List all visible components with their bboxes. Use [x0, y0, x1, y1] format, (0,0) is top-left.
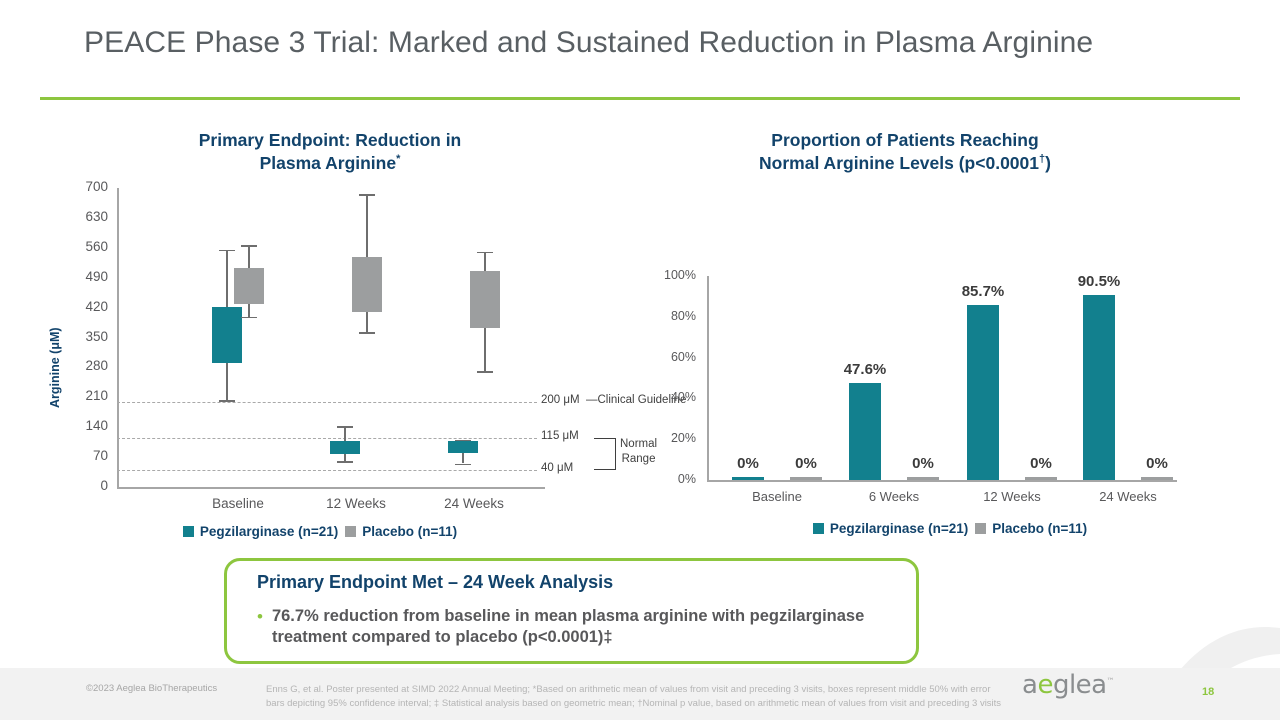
aeglea-logo: aeglea™	[1022, 670, 1114, 700]
page-title: PEACE Phase 3 Trial: Marked and Sustaine…	[84, 26, 1214, 60]
box-plot-box	[470, 271, 500, 327]
bar-chart-x-axis-line	[707, 480, 1177, 482]
bar-chart-bar	[732, 477, 764, 480]
left-chart-title-line1: Primary Endpoint: Reduction in	[199, 130, 462, 150]
box-plot-x-label: 24 Weeks	[414, 496, 534, 511]
box-plot-y-axis-line	[117, 188, 119, 488]
box-plot-whisker-cap-low	[241, 317, 257, 319]
legend-item-placebo: Placebo (n=11)	[975, 521, 1087, 536]
legend-item-pegzilarginase: Pegzilarginase (n=21)	[813, 521, 968, 536]
right-chart-title-line2: Normal Arginine Levels (p<0.0001	[759, 153, 1039, 173]
box-plot-reference-line	[117, 438, 537, 439]
bar-chart-data-label: 0%	[1001, 455, 1081, 472]
box-plot-whisker-cap-low	[477, 371, 493, 373]
copyright-text: ©2023 Aeglea BioTherapeutics	[86, 683, 217, 694]
box-plot-reference-label: 200 μM	[541, 394, 580, 406]
bar-chart-bar	[967, 305, 999, 480]
box-plot-y-tick: 420	[60, 299, 108, 314]
box-plot-box	[352, 257, 382, 312]
box-plot-y-tick: 70	[60, 448, 108, 463]
left-chart-legend: Pegzilarginase (n=21) Placebo (n=11)	[110, 524, 530, 539]
title-divider	[40, 97, 1240, 100]
bar-chart-data-label: 0%	[1117, 455, 1197, 472]
legend-label-placebo: Placebo (n=11)	[362, 524, 457, 539]
box-plot-y-tick: 280	[60, 358, 108, 373]
legend-label-placebo: Placebo (n=11)	[992, 521, 1087, 536]
box-plot-y-tick: 140	[60, 418, 108, 433]
bar-chart-data-label: 0%	[766, 455, 846, 472]
legend-swatch-teal-icon	[183, 526, 194, 537]
legend-swatch-grey-icon	[345, 526, 356, 537]
callout-bullet-item: • 76.7% reduction from baseline in mean …	[257, 606, 902, 649]
bar-chart-bar	[907, 477, 939, 480]
bar-chart-y-tick: 60%	[650, 350, 696, 364]
box-plot-reference-label: 115 μM	[541, 430, 579, 442]
bar-chart-bar	[1083, 295, 1115, 480]
logo-letter-e: e	[1037, 670, 1053, 700]
bar-chart-data-label: 85.7%	[943, 283, 1023, 300]
bar-chart-y-axis-line	[707, 276, 709, 481]
bar-chart-bar	[790, 477, 822, 480]
footnote-text: Enns G, et al. Poster presented at SIMD …	[266, 683, 1006, 712]
legend-label-pegzilarginase: Pegzilarginase (n=21)	[830, 521, 968, 536]
bar-chart-bar	[849, 383, 881, 480]
box-plot-whisker-cap-low	[337, 461, 353, 463]
bar-chart-x-label: 24 Weeks	[1068, 489, 1188, 504]
box-plot-box	[448, 441, 478, 453]
callout-box: Primary Endpoint Met – 24 Week Analysis …	[224, 558, 919, 664]
box-plot-x-axis-line	[117, 487, 545, 489]
bar-chart-y-tick: 100%	[650, 268, 696, 282]
box-plot-reference-line	[117, 402, 537, 403]
bullet-dot-icon: •	[257, 606, 263, 649]
right-chart-legend: Pegzilarginase (n=21) Placebo (n=11)	[735, 521, 1165, 536]
callout-bullet-text: 76.7% reduction from baseline in mean pl…	[272, 606, 902, 649]
box-plot-x-label: Baseline	[178, 496, 298, 511]
left-chart-title: Primary Endpoint: Reduction in Plasma Ar…	[120, 129, 540, 175]
logo-letter-a: a	[1022, 670, 1037, 700]
box-plot-whisker-cap-low	[359, 332, 375, 334]
right-chart-title-paren: )	[1045, 153, 1051, 173]
left-chart-title-line2: Plasma Arginine	[260, 153, 396, 173]
bar-chart-x-label: Baseline	[717, 489, 837, 504]
box-plot-y-tick: 210	[60, 388, 108, 403]
bar-chart-bar	[1141, 477, 1173, 480]
box-plot-whisker-cap-low	[455, 464, 471, 466]
slide: PEACE Phase 3 Trial: Marked and Sustaine…	[0, 0, 1280, 720]
bar-chart-data-label: 47.6%	[825, 361, 905, 378]
left-chart-title-superscript: *	[396, 153, 400, 165]
right-chart-title-line1: Proportion of Patients Reaching	[771, 130, 1038, 150]
box-plot-reference-line	[117, 470, 537, 471]
normal-range-bracket-icon	[594, 438, 616, 470]
box-plot-whisker-cap-high	[241, 245, 257, 247]
box-plot-y-tick: 490	[60, 269, 108, 284]
legend-item-placebo: Placebo (n=11)	[345, 524, 457, 539]
callout-heading: Primary Endpoint Met – 24 Week Analysis	[257, 572, 613, 593]
box-plot-chart: Arginine (μM) 70063056049042035028021014…	[60, 178, 640, 543]
box-plot-x-label: 12 Weeks	[296, 496, 416, 511]
box-plot-box	[330, 441, 360, 453]
bar-chart-y-tick: 40%	[650, 390, 696, 404]
right-chart-title: Proportion of Patients Reaching Normal A…	[690, 129, 1120, 175]
box-plot-y-tick: 0	[60, 478, 108, 493]
bar-chart-bar	[1025, 477, 1057, 480]
box-plot-box	[212, 307, 242, 363]
bar-chart-y-tick: 80%	[650, 309, 696, 323]
box-plot-y-tick: 700	[60, 179, 108, 194]
box-plot-whisker-cap-high	[477, 252, 493, 254]
box-plot-whisker-cap-low	[219, 400, 235, 402]
legend-swatch-teal-icon	[813, 523, 824, 534]
bar-chart: 0%20%40%60%80%100% 0%47.6%85.7%90.5%0%0%…	[650, 270, 1250, 540]
bar-chart-y-tick: 20%	[650, 431, 696, 445]
bar-chart-x-label: 12 Weeks	[952, 489, 1072, 504]
bar-chart-data-label: 0%	[883, 455, 963, 472]
box-plot-whisker-cap-high	[337, 426, 353, 428]
box-plot-y-tick: 350	[60, 329, 108, 344]
box-plot-whisker-cap-high	[359, 194, 375, 196]
legend-swatch-grey-icon	[975, 523, 986, 534]
box-plot-y-tick: 560	[60, 239, 108, 254]
page-number: 18	[1202, 686, 1214, 698]
logo-trademark-icon: ™	[1107, 676, 1115, 685]
box-plot-y-tick: 630	[60, 209, 108, 224]
legend-label-pegzilarginase: Pegzilarginase (n=21)	[200, 524, 338, 539]
bar-chart-y-tick: 0%	[650, 472, 696, 486]
box-plot-box	[234, 268, 264, 304]
legend-item-pegzilarginase: Pegzilarginase (n=21)	[183, 524, 338, 539]
box-plot-reference-label: 40 μM	[541, 462, 573, 474]
box-plot-whisker-cap-high	[219, 250, 235, 252]
logo-text-rest: glea	[1053, 670, 1107, 700]
bar-chart-x-label: 6 Weeks	[834, 489, 954, 504]
bar-chart-data-label: 90.5%	[1059, 273, 1139, 290]
